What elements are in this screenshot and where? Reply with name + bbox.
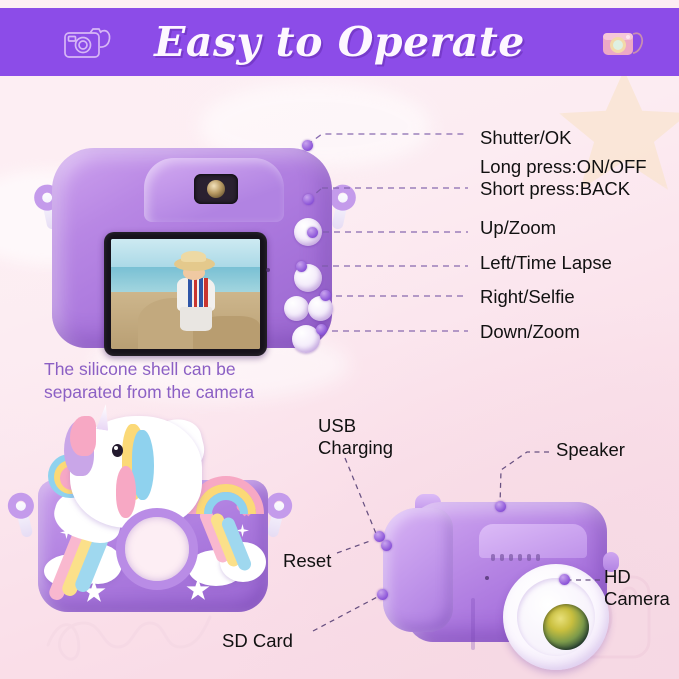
callout-label-usb: USB Charging [318, 415, 393, 459]
microphone-hole [266, 268, 270, 272]
kids-camera-with-shell [30, 118, 360, 358]
shell-lens-cutout [116, 508, 198, 590]
callout-label-reset: Reset [283, 549, 331, 572]
header-banner: Easy to Operate [0, 8, 679, 76]
callout-label-sdcard: SD Card [222, 629, 293, 652]
silicone-shell-note: The silicone shell can be separated from… [44, 358, 314, 404]
infographic-canvas: Easy to Operate [0, 0, 679, 679]
callout-label-hdcamera: HD Camera [604, 566, 670, 610]
callout-label-right: Right/Selfie [480, 285, 575, 308]
callout-label-left: Left/Time Lapse [480, 251, 612, 274]
unicorn-silicone-shell [10, 408, 300, 643]
photo-child-body [177, 278, 216, 311]
left-timelapse-button[interactable] [284, 296, 309, 321]
callout-dot-up [307, 227, 318, 238]
callout-dot-hdcamera [559, 574, 570, 585]
callout-dot-right [320, 290, 331, 301]
camera-grip [383, 508, 453, 632]
callout-dot-speaker [495, 501, 506, 512]
lens-housing [503, 564, 609, 670]
callout-label-shutter: Shutter/OK [480, 126, 572, 149]
kids-camera-bare [385, 460, 635, 660]
right-selfie-button[interactable] [308, 296, 333, 321]
lcd-screen [104, 232, 267, 356]
unicorn-eye [112, 444, 123, 457]
callout-label-up: Up/Zoom [480, 216, 556, 239]
callout-dot-reset [381, 540, 392, 551]
callout-dot-down [316, 324, 327, 335]
callout-label-speaker: Speaker [556, 438, 625, 461]
camera-top-plate [479, 524, 587, 558]
callout-dot-sdcard [377, 589, 388, 600]
callout-dot-left [296, 261, 307, 272]
camera-pink-icon [599, 20, 649, 64]
body-seam [471, 598, 475, 650]
silicone-shell-body [52, 148, 332, 348]
speaker-grille [491, 554, 545, 561]
callout-dot-shutter [302, 140, 313, 151]
hd-camera-lens [543, 604, 589, 650]
callout-dot-power [303, 194, 314, 205]
callout-label-down: Down/Zoom [480, 320, 580, 343]
callout-label-power: Long press:ON/OFF Short press:BACK [480, 156, 647, 200]
front-lens-icon [194, 174, 238, 204]
screen-photo [111, 239, 260, 349]
indicator-led [485, 576, 489, 580]
camera-outline-icon [62, 19, 114, 65]
page-title: Easy to Operate [154, 18, 525, 66]
